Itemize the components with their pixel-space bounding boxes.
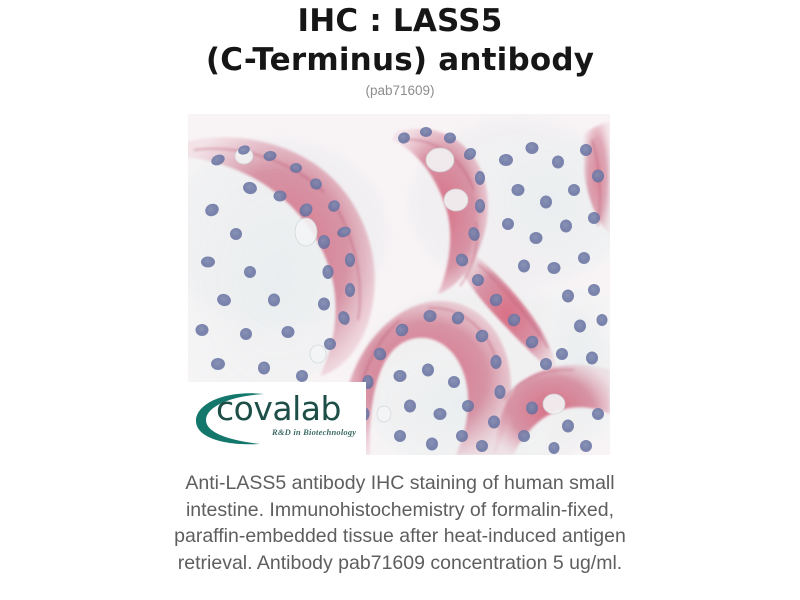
caption-line-4: retrieval. Antibody pab71609 concentrati… — [100, 550, 700, 577]
title-line-1: IHC : LASS5 — [0, 2, 800, 41]
figure-caption: Anti-LASS5 antibody IHC staining of huma… — [100, 470, 700, 576]
covalab-tagline: R&D in Biotechnology — [272, 427, 356, 437]
caption-line-3: paraffin-embedded tissue after heat-indu… — [100, 523, 700, 550]
figure-container: covalab R&D in Biotechnology — [188, 114, 610, 455]
covalab-logo: covalab R&D in Biotechnology — [188, 382, 366, 455]
title-line-2: (C-Terminus) antibody — [0, 41, 800, 80]
catalog-number: (pab71609) — [0, 82, 800, 99]
caption-line-2: intestine. Immunohistochemistry of forma… — [100, 497, 700, 524]
caption-line-1: Anti-LASS5 antibody IHC staining of huma… — [100, 470, 700, 497]
page-title: IHC : LASS5 (C-Terminus) antibody (pab71… — [0, 0, 800, 99]
covalab-wordmark: covalab — [216, 391, 341, 427]
